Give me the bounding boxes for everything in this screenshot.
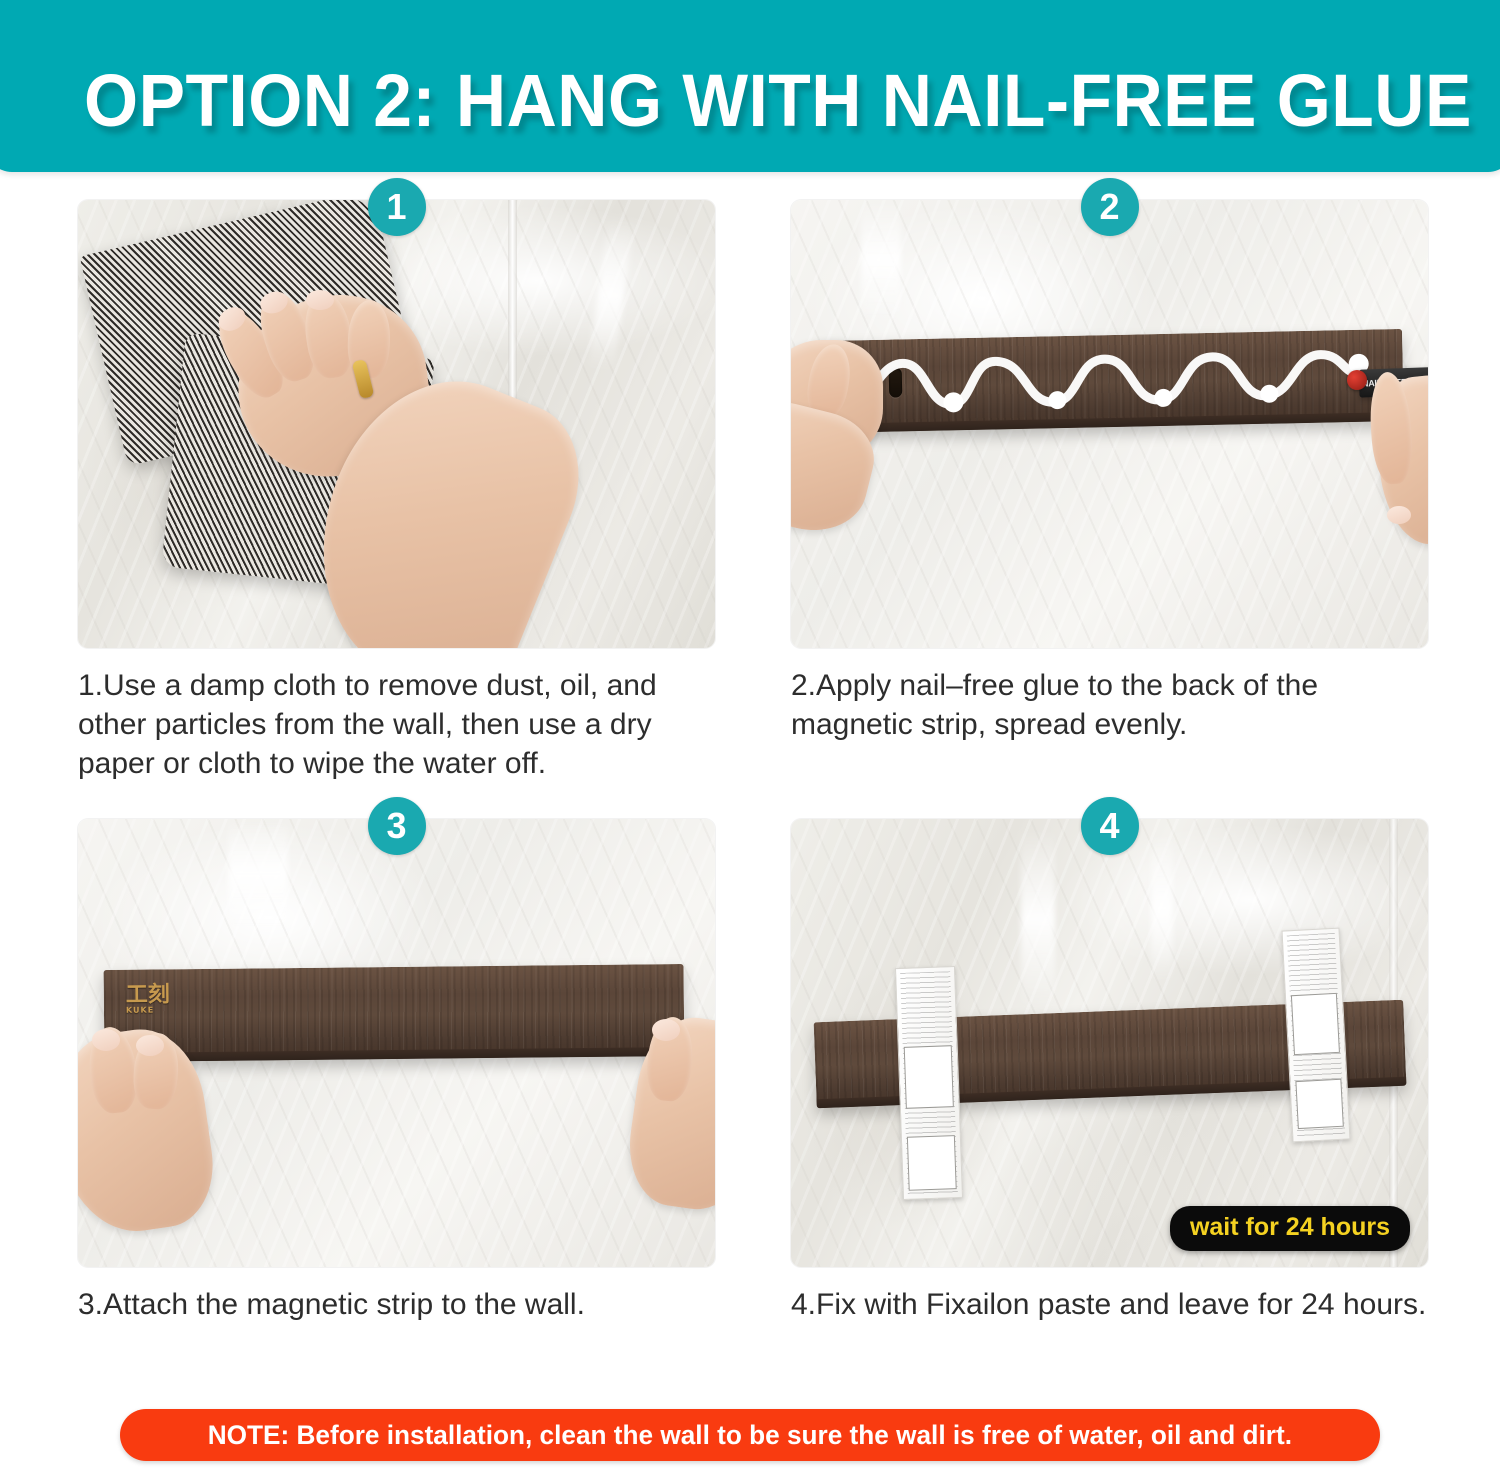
step-2-photo-wrap: 2 bbox=[791, 200, 1428, 648]
fingernail-left-1 bbox=[92, 1029, 120, 1051]
magnetic-wood-strip bbox=[820, 329, 1404, 433]
steps-row-2: 3 工刻 KUKE bbox=[0, 819, 1500, 1324]
glue-squiggle bbox=[820, 329, 1404, 433]
step-1-caption: 1.Use a damp cloth to remove dust, oil, … bbox=[78, 666, 715, 783]
step-4-photo: wait for 24 hours bbox=[791, 819, 1428, 1267]
step-badge-1: 1 bbox=[368, 178, 426, 236]
wall-sheen bbox=[861, 200, 901, 320]
fingernail-3 bbox=[306, 290, 334, 310]
step-2-caption: 2.Apply nail–free glue to the back of th… bbox=[791, 666, 1428, 744]
step-badge-2: 2 bbox=[1081, 178, 1139, 236]
note-bar: NOTE: Before installation, clean the wal… bbox=[120, 1409, 1380, 1461]
step-badge-3: 3 bbox=[368, 797, 426, 855]
brand-logo-subtext: KUKE bbox=[126, 1006, 170, 1014]
brand-logo-stamp: 工刻 KUKE bbox=[126, 985, 170, 1014]
step-panel-2: 2 bbox=[750, 200, 1500, 783]
wall-sheen bbox=[228, 819, 288, 929]
steps-grid: 1 bbox=[0, 200, 1500, 1324]
brand-logo-text: 工刻 bbox=[126, 982, 170, 1007]
step-1-photo-wrap: 1 bbox=[78, 200, 715, 648]
fingernail-right-1 bbox=[652, 1019, 680, 1041]
step-badge-4: 4 bbox=[1081, 797, 1139, 855]
wait-badge: wait for 24 hours bbox=[1170, 1206, 1410, 1251]
paste-strip-left bbox=[895, 966, 963, 1200]
page-title: OPTION 2: HANG WITH NAIL-FREE GLUE bbox=[84, 64, 1472, 138]
wall-sheen-right bbox=[1151, 833, 1173, 983]
step-4-photo-wrap: 4 bbox=[791, 819, 1428, 1267]
note-text: NOTE: Before installation, clean the wal… bbox=[208, 1420, 1292, 1451]
step-3-photo-wrap: 3 工刻 KUKE bbox=[78, 819, 715, 1267]
paste-strip-box-top bbox=[1291, 993, 1340, 1055]
step-panel-3: 3 工刻 KUKE bbox=[0, 819, 750, 1324]
fingernail-left-2 bbox=[136, 1035, 164, 1056]
step-3-photo: 工刻 KUKE bbox=[78, 819, 715, 1267]
step-4-caption: 4.Fix with Fixailon paste and leave for … bbox=[791, 1285, 1428, 1324]
paste-strip-box-top bbox=[904, 1045, 954, 1109]
paste-strip-box-bottom bbox=[907, 1135, 957, 1191]
wall-sheen-center bbox=[1021, 829, 1055, 1009]
paste-strip-box-bottom bbox=[1295, 1079, 1343, 1129]
step-3-caption: 3.Attach the magnetic strip to the wall. bbox=[78, 1285, 715, 1324]
glue-tube-cap bbox=[1347, 370, 1367, 390]
fingernail-right bbox=[1387, 506, 1411, 524]
paste-strip-right bbox=[1281, 928, 1350, 1143]
magnetic-wood-strip: 工刻 KUKE bbox=[104, 964, 685, 1062]
steps-row-1: 1 bbox=[0, 200, 1500, 783]
step-2-photo: NAIL FREE GLUE bbox=[791, 200, 1428, 648]
step-panel-4: 4 bbox=[750, 819, 1500, 1324]
step-1-photo bbox=[78, 200, 715, 648]
step-panel-1: 1 bbox=[0, 200, 750, 783]
header-banner: OPTION 2: HANG WITH NAIL-FREE GLUE bbox=[0, 0, 1500, 172]
